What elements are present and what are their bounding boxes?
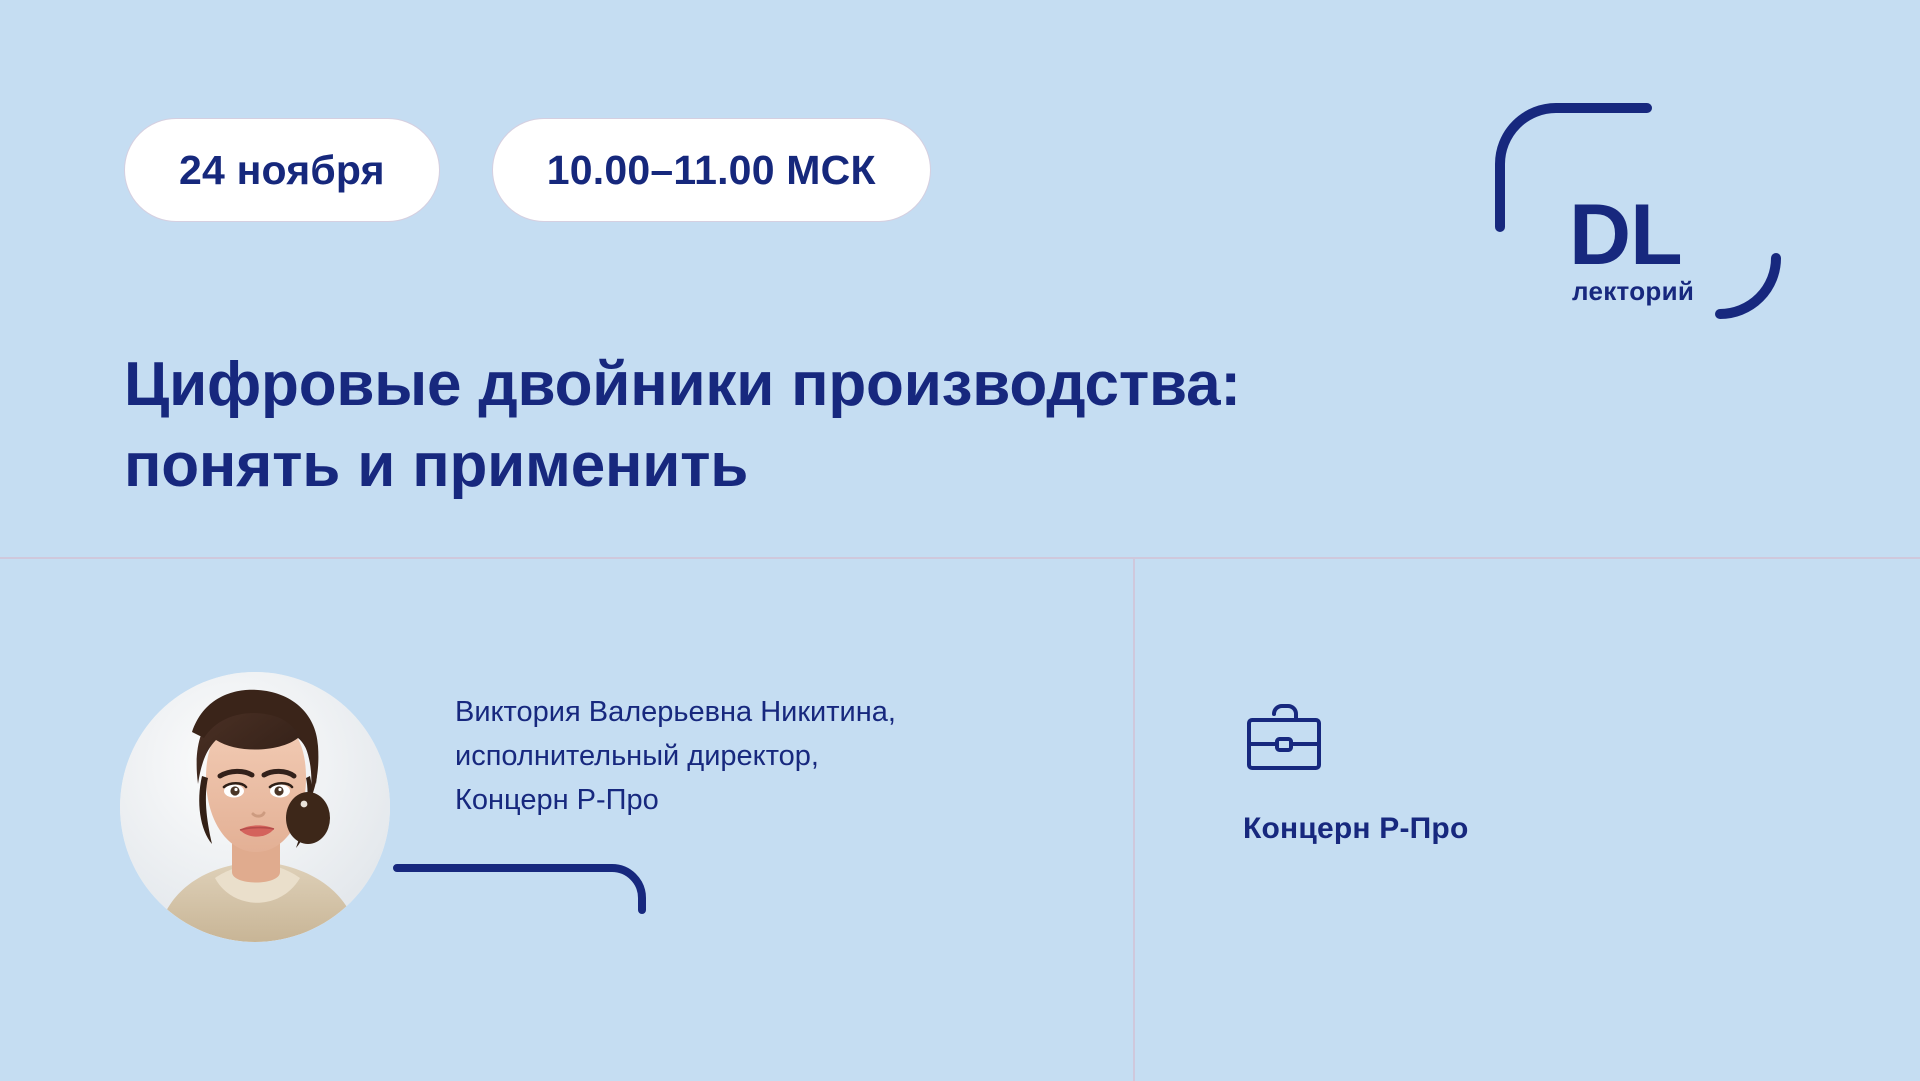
event-time-pill[interactable]: 10.00–11.00 МСК xyxy=(492,118,931,222)
horizontal-divider xyxy=(0,557,1920,559)
speaker-role: исполнительный директор, xyxy=(455,734,896,778)
speaker-name: Виктория Валерьевна Никитина, xyxy=(455,690,896,734)
hook-underline-icon xyxy=(392,862,692,922)
speaker-details: Виктория Валерьевна Никитина, исполнител… xyxy=(455,690,896,822)
briefcase-icon xyxy=(1243,700,1325,776)
event-meta-pills: 24 ноября 10.00–11.00 МСК xyxy=(124,118,931,222)
speaker-company: Концерн Р-Про xyxy=(455,778,896,822)
dl-lektoriy-logo[interactable]: DL лекторий xyxy=(1492,100,1822,340)
event-time-label: 10.00–11.00 МСК xyxy=(547,147,876,194)
avatar xyxy=(120,672,390,942)
page-title: Цифровые двойники производства: понять и… xyxy=(124,344,1444,508)
logo-subtitle: лекторий xyxy=(1572,278,1694,304)
logo-wordmark: DL xyxy=(1569,192,1682,278)
event-date-label: 24 ноября xyxy=(179,147,385,194)
speaker-portrait xyxy=(120,672,390,942)
vertical-divider xyxy=(1133,558,1135,1081)
corner-arc-icon xyxy=(1714,252,1819,348)
event-date-pill[interactable]: 24 ноября xyxy=(124,118,440,222)
webinar-banner: 24 ноября 10.00–11.00 МСК Цифровые двойн… xyxy=(0,0,1920,1081)
page-title-line-2: понять и применить xyxy=(124,425,1444,507)
page-title-line-1: Цифровые двойники производства: xyxy=(124,344,1444,426)
company-name-label: Концерн Р-Про xyxy=(1243,812,1468,846)
